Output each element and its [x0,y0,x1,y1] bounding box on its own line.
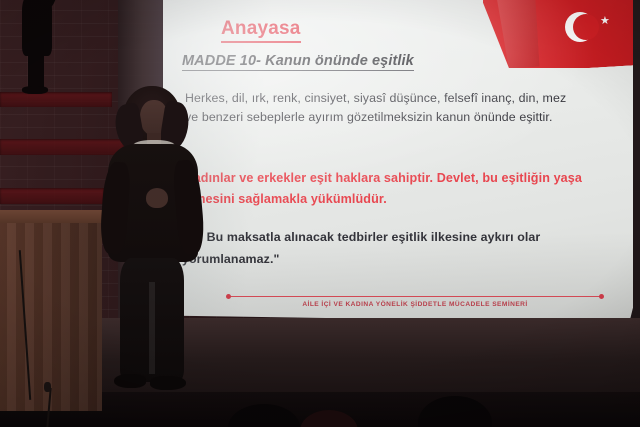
slide-quote-line-1: •"... Bu maksatla alınacak tedbirler eşi… [182,226,540,248]
lectern-top [0,210,106,224]
projection-screen: AK ★ Anayasa MADDE 10- Kanun önünde eşit… [163,0,633,324]
crescent-icon [565,12,595,42]
photo-scene: AK ★ Anayasa MADDE 10- Kanun önünde eşit… [0,0,640,427]
microphone-icon [44,382,51,392]
star-icon: ★ [600,17,609,26]
turkish-flag-graphic: AK ★ [483,0,633,68]
slide-highlight-line-1: •Kadınlar ve erkekler eşit haklara sahip… [180,168,582,189]
presenter-hand [146,188,168,208]
lectern [0,210,106,410]
standing-person-silhouette [8,0,64,98]
slide-paragraph-line-1: Herkes, dil, ırk, renk, cinsiyet, siyasî… [185,88,640,108]
slide-title: Anayasa [221,18,301,43]
presenter [100,86,204,406]
slide-highlight-line-2: eçmesini sağlamakla yükümlüdür. [180,189,387,210]
presenter-shoe-right [150,376,186,390]
slide-footer-caption: AİLE İÇİ VE KADINA YÖNELİK ŞİDDETLE MÜCA… [229,301,601,308]
wall-banner-3 [0,188,104,204]
slide-paragraph-line-2: ve benzeri sebeplerle ayırım gözetilmeks… [185,107,640,127]
slide-footer-rule [229,296,601,297]
presenter-shoe-left [114,374,146,388]
slide-subtitle: MADDE 10- Kanun önünde eşitlik [182,53,414,71]
silhouette-foot [22,86,48,94]
silhouette-legs [28,50,44,90]
presenter-leg-gap [149,282,155,374]
lectern-texture [0,223,102,411]
